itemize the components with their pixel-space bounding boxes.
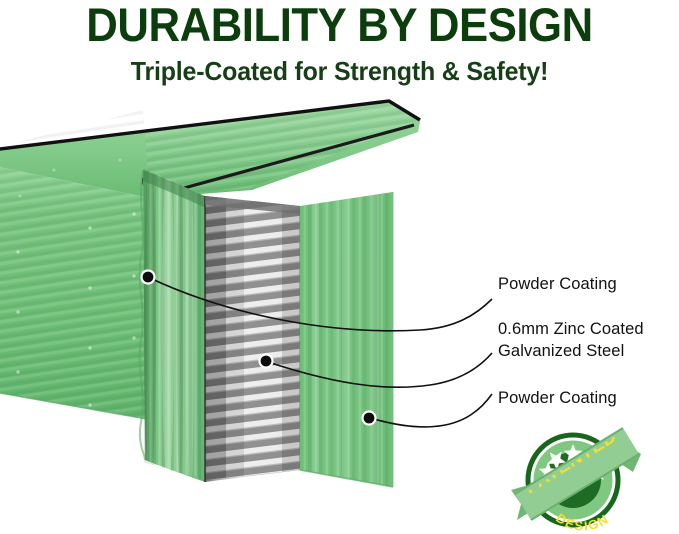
patented-design-badge: DESIGN PATENTED <box>503 424 643 534</box>
callout-label-powder-coating-inner: Powder Coating <box>498 387 617 409</box>
callout-dot-3 <box>361 410 376 425</box>
callout-label-zinc-coated-galvanized-steel: 0.6mm Zinc Coated Galvanized Steel <box>498 318 644 362</box>
product-infographic: DURABILITY BY DESIGN Triple-Coated for S… <box>0 0 679 534</box>
galvanized-steel-core <box>200 185 310 495</box>
bed-corner-column <box>140 150 212 498</box>
bed-left-panel <box>0 159 152 421</box>
callout-dot-2 <box>258 353 273 368</box>
callout-label-powder-coating-outer: Powder Coating <box>498 273 617 295</box>
bed-right-panel <box>296 185 398 495</box>
callout-dot-1 <box>140 269 155 284</box>
